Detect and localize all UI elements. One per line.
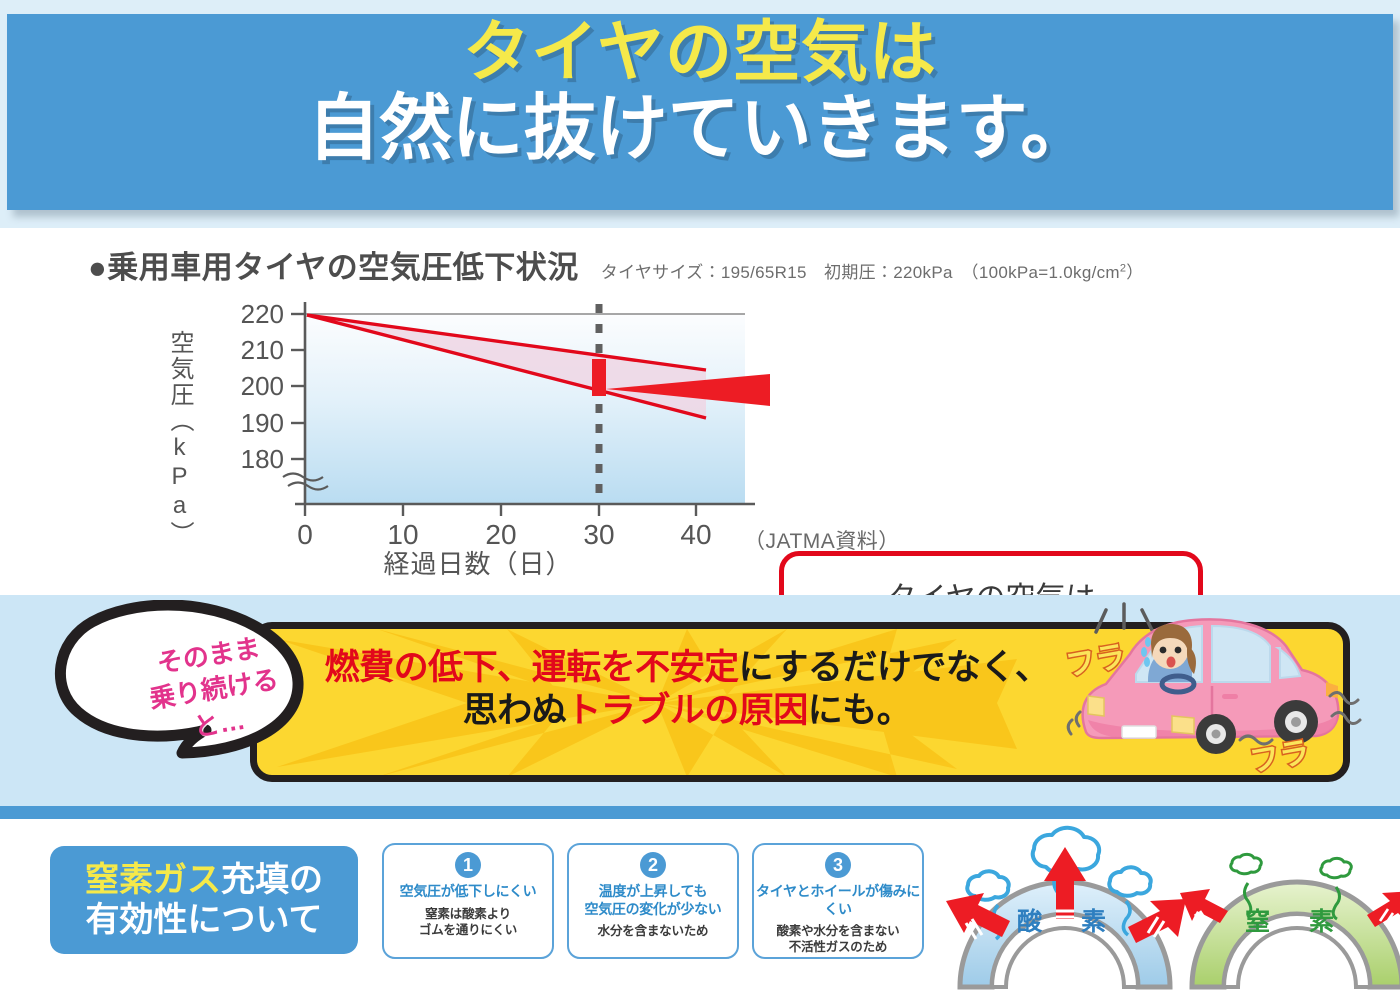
chart-meta-prefix: タイヤサイズ：195/65R15 初期圧：220kPa （100kPa=1.0k… bbox=[601, 263, 1120, 282]
svg-text:210: 210 bbox=[241, 335, 284, 365]
card-description-line-2: ゴムを通りにくい bbox=[419, 922, 517, 938]
svg-text:220: 220 bbox=[241, 299, 284, 329]
card-description-line-2: 不活性ガスのため bbox=[776, 939, 899, 955]
benefit-card-2[interactable]: 2 温度が上昇しても 空気圧の変化が少ない 水分を含まないため bbox=[567, 843, 739, 959]
svg-text:190: 190 bbox=[241, 408, 284, 438]
warning-line1-black: にするだけでなく、 bbox=[739, 648, 1050, 687]
nitrogen-title-line-2: 有効性について bbox=[86, 900, 323, 940]
warning-line1-red: 燃費の低下、運転を不安定 bbox=[325, 648, 739, 687]
nitrogen-section-title: 窒素ガス充填の 有効性について bbox=[50, 846, 358, 954]
speech-bubble: そのまま 乗り続けると… bbox=[48, 600, 308, 770]
card-description-line-1: 水分を含まないため bbox=[598, 923, 709, 939]
nitrogen-title-rest: 充填の bbox=[221, 861, 323, 899]
card-headline: 温度が上昇しても 空気圧の変化が少ない bbox=[585, 883, 722, 918]
warning-line-1: 燃費の低下、運転を不安定にするだけでなく、 bbox=[317, 647, 1057, 690]
svg-text:30: 30 bbox=[583, 519, 614, 546]
nitrogen-benefits-section: 窒素ガス充填の 有効性について 1 空気圧が低下しにくい 窒素は酸素より ゴムを… bbox=[0, 819, 1400, 990]
chart-svg: 220 210 200 190 180 0 10 20 30 40 bbox=[150, 296, 770, 546]
chart-plot-area: 空気圧（kPa） bbox=[150, 296, 770, 586]
chart-section: ●乗用車用タイヤの空気圧低下状況 タイヤサイズ：195/65R15 初期圧：22… bbox=[0, 228, 1400, 595]
benefit-card-1[interactable]: 1 空気圧が低下しにくい 窒素は酸素より ゴムを通りにくい bbox=[382, 843, 554, 959]
card-number-badge: 3 bbox=[825, 852, 851, 878]
nitrogen-title-highlight: 窒素ガス bbox=[85, 861, 221, 899]
svg-text:10: 10 bbox=[387, 519, 418, 546]
warning-line2-pre: 思わぬ bbox=[463, 691, 567, 730]
section-divider bbox=[0, 806, 1400, 819]
card-description: 水分を含まないため bbox=[598, 923, 709, 939]
headline-banner: タイヤの空気は 自然に抜けていきます。 bbox=[7, 14, 1393, 210]
warning-line-2: 思わぬトラブルの原因にも。 bbox=[317, 690, 1057, 733]
svg-text:20: 20 bbox=[485, 519, 516, 546]
poster-root: タイヤの空気は 自然に抜けていきます。 ●乗用車用タイヤの空気圧低下状況 タイヤ… bbox=[0, 0, 1400, 990]
svg-text:40: 40 bbox=[680, 519, 711, 546]
card-description-line-1: 酸素や水分を含まない bbox=[776, 923, 899, 939]
benefit-card-3[interactable]: 3 タイヤとホイールが傷みにくい 酸素や水分を含まない 不活性ガスのため bbox=[752, 843, 924, 959]
svg-text:0: 0 bbox=[297, 519, 313, 546]
svg-text:180: 180 bbox=[241, 444, 284, 474]
chart-meta: タイヤサイズ：195/65R15 初期圧：220kPa （100kPa=1.0k… bbox=[601, 258, 1144, 283]
chart-header: ●乗用車用タイヤの空気圧低下状況 タイヤサイズ：195/65R15 初期圧：22… bbox=[88, 242, 1144, 287]
card-number-badge: 1 bbox=[455, 852, 481, 878]
card-headline: 空気圧が低下しにくい bbox=[400, 883, 537, 901]
oxygen-label: 酸 素 bbox=[1000, 902, 1130, 938]
card-headline-line-2: 空気圧の変化が少ない bbox=[585, 901, 722, 919]
card-description-line-1: 窒素は酸素より bbox=[419, 906, 517, 922]
chart-day30-range-marker bbox=[592, 359, 606, 396]
chart-title: ●乗用車用タイヤの空気圧低下状況 bbox=[88, 242, 579, 287]
card-headline: タイヤとホイールが傷みにくい bbox=[754, 883, 922, 918]
card-description: 酸素や水分を含まない 不活性ガスのため bbox=[776, 923, 899, 956]
card-headline-line-1: 温度が上昇しても bbox=[585, 883, 722, 901]
benefit-cards: 1 空気圧が低下しにくい 窒素は酸素より ゴムを通りにくい 2 温度が上昇しても… bbox=[382, 843, 924, 959]
warning-text: 燃費の低下、運転を不安定にするだけでなく、 思わぬトラブルの原因にも。 bbox=[317, 647, 1057, 732]
card-description: 窒素は酸素より ゴムを通りにくい bbox=[419, 906, 517, 939]
chart-meta-suffix: ） bbox=[1126, 263, 1143, 282]
warning-line2-post: にも。 bbox=[808, 691, 912, 730]
svg-text:200: 200 bbox=[241, 371, 284, 401]
warning-line2-red: トラブルの原因 bbox=[566, 691, 808, 730]
headline-line-2: 自然に抜けていきます。 bbox=[7, 94, 1393, 165]
chart-x-axis-label: 経過日数（日） bbox=[298, 544, 658, 581]
nitrogen-title-line-1: 窒素ガス充填の bbox=[85, 860, 323, 900]
headline-line-1: タイヤの空気は bbox=[7, 20, 1393, 86]
wobbling-car-illustration: フラ フラ bbox=[1044, 600, 1374, 780]
card-number-badge: 2 bbox=[640, 852, 666, 878]
nitrogen-label: 窒 素 bbox=[1228, 902, 1358, 938]
